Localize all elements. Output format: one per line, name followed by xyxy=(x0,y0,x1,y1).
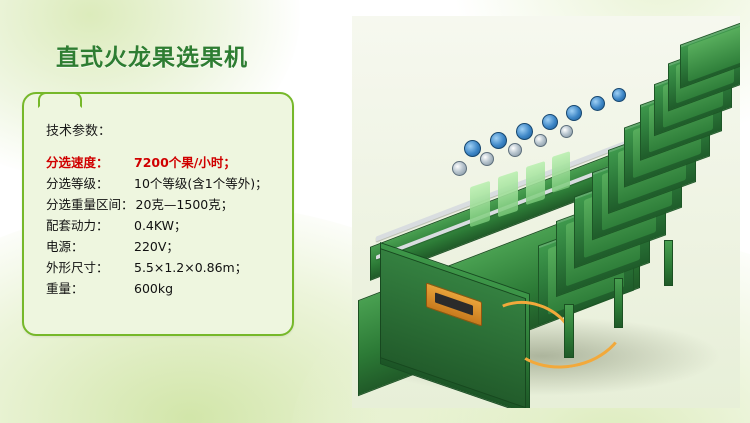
spec-list: 分选速度： 7200个果/小时； 分选等级： 10个等级(含1个等外)； 分选重… xyxy=(46,152,278,299)
weighing-roller xyxy=(516,123,533,140)
spec-label: 电源： xyxy=(46,236,132,257)
spec-card-inner: 技术参数： 分选速度： 7200个果/小时； 分选等级： 10个等级(含1个等外… xyxy=(24,94,292,334)
spec-row-dimensions: 外形尺寸： 5.5×1.2×0.86m； xyxy=(46,257,278,278)
spec-label: 外形尺寸： xyxy=(46,257,132,278)
discharge-flap xyxy=(470,181,490,227)
spec-row-voltage: 电源： 220V； xyxy=(46,236,278,257)
spec-label: 重量： xyxy=(46,278,132,299)
weighing-roller xyxy=(464,140,481,157)
chain-roller xyxy=(480,152,494,166)
chain-roller xyxy=(560,125,573,138)
spec-row-mass: 重量： 600kg xyxy=(46,278,278,299)
support-leg xyxy=(664,240,673,286)
discharge-flap xyxy=(552,151,570,193)
spec-card-heading: 技术参数： xyxy=(46,120,278,139)
spec-label: 分选等级： xyxy=(46,173,132,194)
spec-value: 600kg xyxy=(134,278,173,299)
weighing-roller xyxy=(590,96,605,111)
spec-value: 220V； xyxy=(134,236,179,257)
page-title: 直式火龙果选果机 xyxy=(56,38,248,72)
spec-value: 0.4KW； xyxy=(134,215,187,236)
spec-label: 分选重量区间： xyxy=(46,194,134,215)
slide-canvas: 直式火龙果选果机 技术参数： 分选速度： 7200个果/小时； 分选等级： 10… xyxy=(0,0,750,423)
weighing-roller xyxy=(566,105,582,121)
spec-label: 配套动力： xyxy=(46,215,132,236)
support-leg xyxy=(564,304,574,358)
weighing-roller xyxy=(612,88,626,102)
weighing-roller xyxy=(490,132,507,149)
support-leg xyxy=(614,278,623,328)
spec-row-speed: 分选速度： 7200个果/小时； xyxy=(46,152,278,173)
spec-value: 7200个果/小时； xyxy=(134,152,236,173)
machine-photo xyxy=(352,16,740,408)
spec-value: 5.5×1.2×0.86m； xyxy=(134,257,247,278)
spec-row-grades: 分选等级： 10个等级(含1个等外)； xyxy=(46,173,278,194)
spec-card: 技术参数： 分选速度： 7200个果/小时； 分选等级： 10个等级(含1个等外… xyxy=(22,92,294,336)
weighing-roller xyxy=(542,114,558,130)
chain-roller xyxy=(508,143,522,157)
spec-value: 10个等级(含1个等外)； xyxy=(134,173,268,194)
chain-roller xyxy=(452,161,467,176)
spec-row-power: 配套动力： 0.4KW； xyxy=(46,215,278,236)
spec-row-weight-range: 分选重量区间： 20克—1500克； xyxy=(46,194,278,215)
discharge-flap xyxy=(526,161,545,205)
spec-value: 20克—1500克； xyxy=(136,194,234,215)
chain-roller xyxy=(534,134,547,147)
discharge-flap xyxy=(498,171,518,217)
spec-label: 分选速度： xyxy=(46,152,132,173)
card-tab-mask xyxy=(40,105,80,110)
